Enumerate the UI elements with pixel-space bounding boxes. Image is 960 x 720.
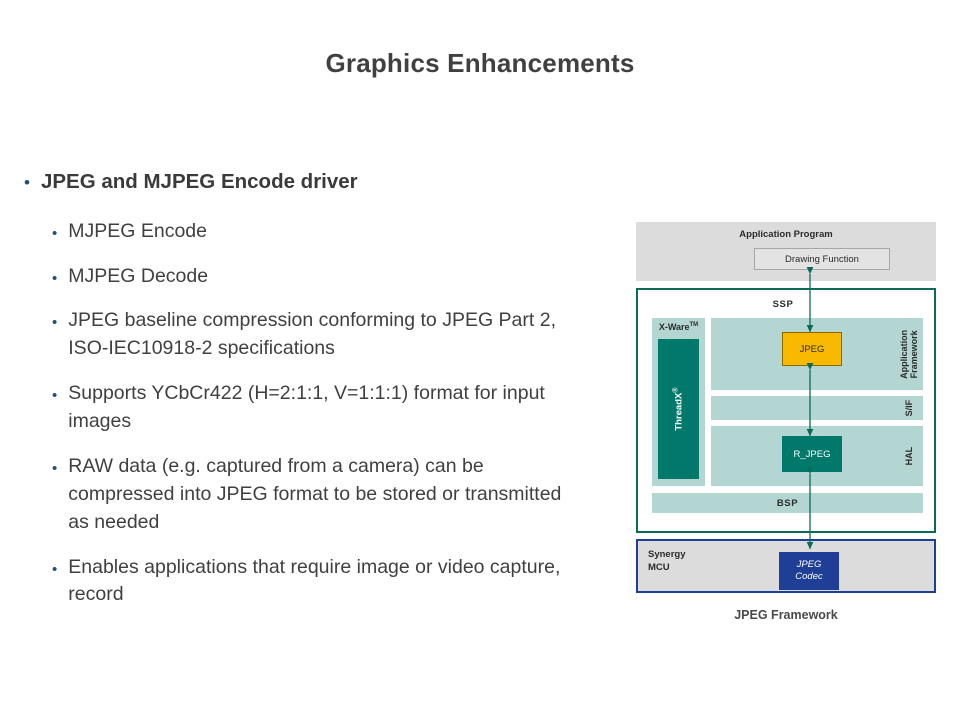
- hal-vertical-label: HAL: [897, 426, 921, 486]
- jpeg-codec-block: JPEG Codec: [779, 552, 839, 590]
- list-item-label: Enables applications that require image …: [68, 554, 584, 610]
- threadx-label: ThreadX®: [672, 387, 684, 430]
- list-item: • MJPEG Encode: [24, 218, 584, 246]
- application-program-band: Application Program Drawing Function: [636, 222, 936, 281]
- list-item-label: JPEG baseline compression conforming to …: [68, 307, 584, 363]
- ssp-label: SSP: [638, 299, 928, 310]
- layer-row-s-if: S/IF: [711, 396, 923, 420]
- threadx-block: ThreadX®: [658, 339, 699, 479]
- trademark-mark: TM: [690, 322, 699, 328]
- list-item: • RAW data (e.g. captured from a camera)…: [24, 453, 584, 537]
- x-ware-label: X-WareTM: [652, 322, 705, 332]
- bullet-marker-icon: •: [52, 388, 57, 403]
- jpeg-block: JPEG: [782, 332, 842, 366]
- x-ware-text: X-Ware: [659, 322, 690, 332]
- mcu-line1: Synergy: [648, 549, 686, 560]
- list-item-label: RAW data (e.g. captured from a camera) c…: [68, 453, 584, 537]
- layer-row-bsp: BSP: [652, 493, 923, 513]
- bullet-marker-icon: •: [52, 562, 57, 577]
- list-item: • JPEG and MJPEG Encode driver: [24, 168, 584, 196]
- s-if-text: S/IF: [904, 400, 914, 417]
- list-item-label: MJPEG Decode: [68, 263, 584, 291]
- codec-line2: Codec: [795, 571, 822, 583]
- bullet-marker-icon: •: [52, 315, 57, 330]
- bullet-marker-icon: •: [52, 461, 57, 476]
- appfw-line1: Application: [899, 330, 909, 379]
- synergy-mcu-label: Synergy MCU: [648, 549, 686, 575]
- application-program-label: Application Program: [636, 229, 936, 240]
- ssp-container: SSP X-WareTM ThreadX® ApplicationFramewo…: [636, 288, 936, 533]
- diagram-caption: JPEG Framework: [636, 608, 936, 622]
- list-item: • JPEG baseline compression conforming t…: [24, 307, 584, 363]
- synergy-mcu-container: Synergy MCU JPEG Codec: [636, 539, 936, 593]
- page-title: Graphics Enhancements: [0, 48, 960, 79]
- list-item-label: JPEG and MJPEG Encode driver: [41, 168, 584, 196]
- bullet-marker-icon: •: [52, 226, 57, 241]
- threadx-text: ThreadX: [674, 393, 685, 431]
- bullet-marker-icon: •: [52, 271, 57, 286]
- list-item: • Supports YCbCr422 (H=2:1:1, V=1:1:1) f…: [24, 380, 584, 436]
- s-if-vertical-label: S/IF: [897, 396, 921, 420]
- r-jpeg-block: R_JPEG: [782, 436, 842, 472]
- list-item: • Enables applications that require imag…: [24, 554, 584, 610]
- appfw-line2: Framework: [909, 330, 919, 378]
- x-ware-column: X-WareTM ThreadX®: [652, 318, 705, 486]
- bullet-marker-icon: •: [24, 174, 30, 191]
- bullet-list: • JPEG and MJPEG Encode driver • MJPEG E…: [24, 168, 584, 626]
- list-item-label: Supports YCbCr422 (H=2:1:1, V=1:1:1) for…: [68, 380, 584, 436]
- registered-mark: ®: [672, 387, 679, 392]
- jpeg-framework-diagram: Application Program Drawing Function SSP…: [636, 222, 936, 622]
- drawing-function-block: Drawing Function: [754, 248, 890, 270]
- bsp-label: BSP: [652, 493, 923, 513]
- list-item-label: MJPEG Encode: [68, 218, 584, 246]
- hal-text: HAL: [904, 447, 914, 466]
- application-framework-vertical-label: ApplicationFramework: [897, 318, 921, 390]
- mcu-line2: MCU: [648, 562, 670, 573]
- list-item: • MJPEG Decode: [24, 263, 584, 291]
- codec-line1: JPEG: [797, 559, 822, 571]
